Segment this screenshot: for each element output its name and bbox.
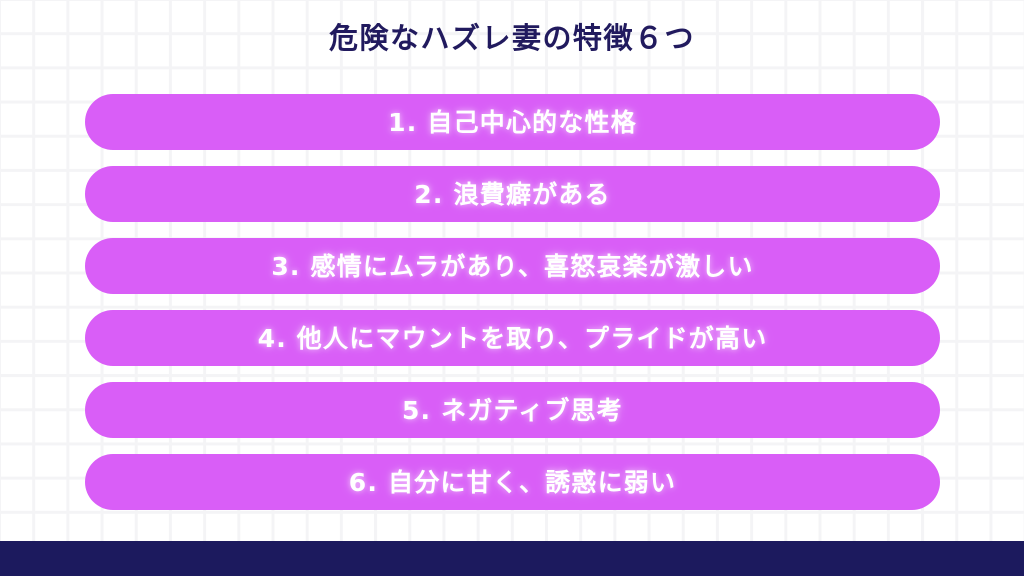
- list-item[interactable]: 2. 浪費癖がある: [85, 166, 940, 222]
- list-item[interactable]: 4. 他人にマウントを取り、プライドが高い: [85, 310, 940, 366]
- slide-canvas: 危険なハズレ妻の特徴６つ 1. 自己中心的な性格 2. 浪費癖がある 3. 感情…: [0, 0, 1024, 576]
- list-item[interactable]: 3. 感情にムラがあり、喜怒哀楽が激しい: [85, 238, 940, 294]
- list-item-label: 6. 自分に甘く、誘惑に弱い: [349, 470, 676, 495]
- list-item-label: 3. 感情にムラがあり、喜怒哀楽が激しい: [271, 254, 753, 279]
- list-item-label: 4. 他人にマウントを取り、プライドが高い: [258, 326, 768, 351]
- list-item-label: 2. 浪費癖がある: [414, 182, 610, 207]
- list-item[interactable]: 6. 自分に甘く、誘惑に弱い: [85, 454, 940, 510]
- list-item[interactable]: 1. 自己中心的な性格: [85, 94, 940, 150]
- footer-bar: [0, 541, 1024, 576]
- page-title: 危険なハズレ妻の特徴６つ: [0, 20, 1024, 58]
- feature-list: 1. 自己中心的な性格 2. 浪費癖がある 3. 感情にムラがあり、喜怒哀楽が激…: [85, 94, 940, 510]
- list-item-label: 1. 自己中心的な性格: [388, 110, 637, 135]
- list-item[interactable]: 5. ネガティブ思考: [85, 382, 940, 438]
- list-item-label: 5. ネガティブ思考: [402, 398, 623, 423]
